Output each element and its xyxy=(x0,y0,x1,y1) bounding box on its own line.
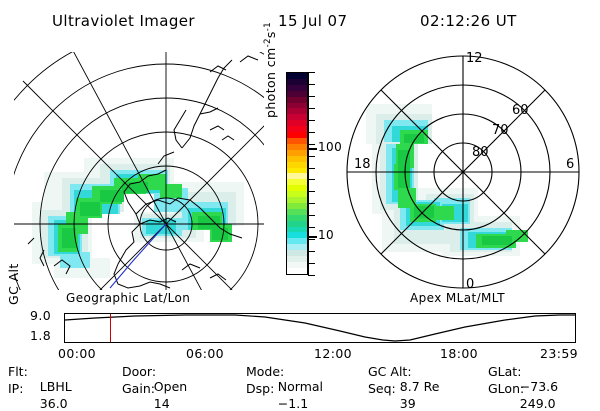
status-mode-label: Mode: xyxy=(246,364,284,379)
colorbar-axis xyxy=(308,72,309,275)
status-seq-value: 39 xyxy=(400,396,416,411)
status-ip-label: IP: xyxy=(8,381,23,396)
orbit-xtick-3: 18:00 xyxy=(440,346,478,361)
colorbar-minor-tick xyxy=(308,132,315,133)
status-gain-label: Gain: xyxy=(122,381,155,396)
colorbar-minor-tick xyxy=(308,239,315,240)
colorbar-band-33 xyxy=(287,268,307,274)
status-dsp: Dsp: −1.1 xyxy=(246,381,308,411)
mlat-label-60: 60 xyxy=(512,103,529,118)
observation-time: 02:12:26 UT xyxy=(420,12,517,30)
mlt-label-18: 18 xyxy=(354,157,371,172)
colorbar-major-tick-0 xyxy=(308,148,317,150)
orbit-ytick-high: 9.0 xyxy=(30,308,51,323)
status-row-1: Flt: LBHL Door: Open Mode: Normal GC Alt… xyxy=(0,364,600,380)
colorbar-tick-label-100: 100 xyxy=(318,140,342,154)
colorbar-minor-tick xyxy=(308,168,315,169)
status-seq: Seq: 39 xyxy=(368,381,416,411)
status-ip-value: 36.0 xyxy=(40,396,68,411)
magnetic-panel-subtitle: Apex MLat/MLT xyxy=(410,291,505,305)
colorbar-minor-tick xyxy=(308,263,315,264)
colorbar-minor-tick xyxy=(308,191,315,192)
orbit-xtick-4: 23:59 xyxy=(540,346,578,361)
colorbar-minor-tick xyxy=(308,179,315,180)
colorbar-label-part1: photon cm xyxy=(263,47,278,118)
mlt-label-6: 6 xyxy=(566,157,574,172)
orbit-altitude-curve xyxy=(65,314,575,342)
status-glon-value: 249.0 xyxy=(520,396,556,411)
colorbar-minor-tick xyxy=(308,203,315,204)
colorbar-major-tick-1 xyxy=(308,236,317,238)
status-gc-alt-label: GC Alt: xyxy=(368,364,412,379)
magnetic-polar-plot: 12 6 0 18 60 70 80 xyxy=(338,48,588,292)
orbit-xtick-2: 12:00 xyxy=(314,346,352,361)
colorbar-minor-tick xyxy=(308,84,315,85)
colorbar-minor-tick xyxy=(308,215,315,216)
orbit-axis-label: GC Alt xyxy=(6,263,21,305)
orbit-altitude-plot xyxy=(64,313,576,343)
status-dsp-value: −1.1 xyxy=(278,396,308,411)
orbit-xtick-0: 00:00 xyxy=(58,346,96,361)
status-gain: Gain: 14 xyxy=(122,381,170,411)
status-row-2: IP: 36.0 Gain: 14 Dsp: −1.1 Seq: 39 GLon… xyxy=(0,381,600,397)
colorbar-minor-tick xyxy=(308,144,315,145)
mlt-label-0: 0 xyxy=(466,277,474,292)
observation-date: 15 Jul 07 xyxy=(278,12,347,30)
colorbar-axis-label: photon cm-2s-1 xyxy=(263,22,278,118)
mlat-label-80: 80 xyxy=(472,145,489,160)
colorbar-minor-tick xyxy=(308,227,315,228)
header-bar: Ultraviolet Imager 15 Jul 07 02:12:26 UT xyxy=(0,6,600,30)
colorbar-minor-tick xyxy=(308,120,315,121)
colorbar-minor-tick xyxy=(308,108,315,109)
colorbar-label-exp1: -2 xyxy=(263,38,273,47)
uvi-display: Ultraviolet Imager 15 Jul 07 02:12:26 UT xyxy=(0,0,600,400)
colorbar-minor-tick xyxy=(308,156,315,157)
orbit-xtick-1: 06:00 xyxy=(186,346,224,361)
geographic-polar-plot xyxy=(14,52,264,290)
status-glon-label: GLon: xyxy=(488,381,524,396)
mlt-label-12: 12 xyxy=(466,51,483,66)
instrument-title: Ultraviolet Imager xyxy=(52,12,195,30)
status-glon: GLon: 249.0 xyxy=(488,381,556,411)
colorbar-gradient xyxy=(286,72,308,275)
status-dsp-label: Dsp: xyxy=(246,381,274,396)
orbit-current-time-marker xyxy=(110,314,111,342)
mlat-label-70: 70 xyxy=(492,123,509,138)
mlt-spokes xyxy=(347,56,579,288)
orbit-ytick-low: 1.8 xyxy=(30,328,51,343)
status-footer: Flt: LBHL Door: Open Mode: Normal GC Alt… xyxy=(0,364,600,398)
colorbar-minor-tick xyxy=(308,275,315,276)
status-ip: IP: 36.0 xyxy=(8,381,68,411)
colorbar-minor-tick xyxy=(308,251,315,252)
magnetic-plot-svg: 12 6 0 18 60 70 80 xyxy=(338,48,588,292)
status-gain-value: 14 xyxy=(154,396,170,411)
geographic-plot-svg xyxy=(14,52,264,290)
geographic-panel-subtitle: Geographic Lat/Lon xyxy=(66,291,190,305)
colorbar-tick-label-10: 10 xyxy=(318,228,334,242)
colorbar-minor-tick xyxy=(308,72,315,73)
colorbar-label-part2: s xyxy=(263,31,278,38)
status-flt-label: Flt: xyxy=(8,364,28,379)
status-seq-label: Seq: xyxy=(368,381,396,396)
colorbar-label-exp2: -1 xyxy=(263,22,273,31)
status-door-label: Door: xyxy=(122,364,156,379)
colorbar-minor-tick xyxy=(308,96,315,97)
status-glat-label: GLat: xyxy=(488,364,521,379)
